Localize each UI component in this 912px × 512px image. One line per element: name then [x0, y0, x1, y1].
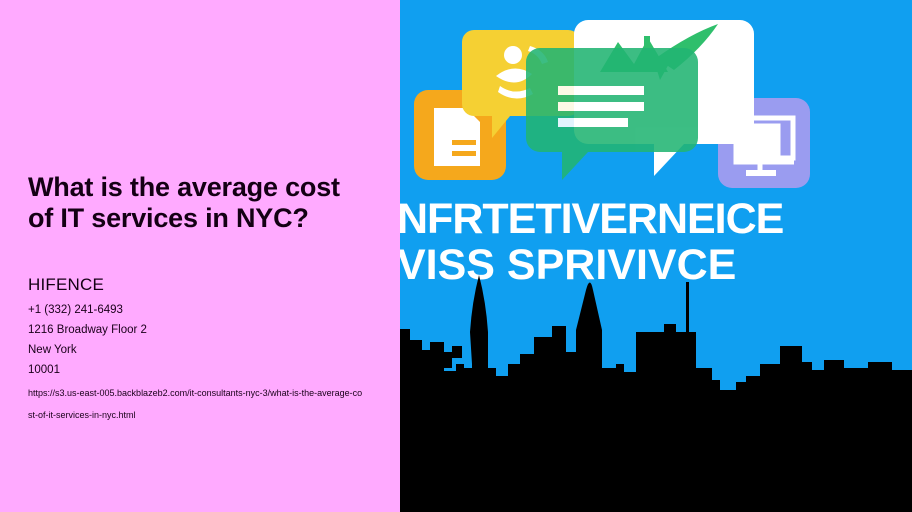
contact-city: New York [28, 340, 368, 360]
right-image-panel: NFRTETIVERNEICE VISS SPRIVIVCE [400, 0, 912, 512]
city-skyline [400, 272, 912, 512]
message-lines-bubble-icon [526, 48, 698, 180]
left-text-panel: What is the average cost of IT services … [0, 0, 400, 512]
contact-zip: 10001 [28, 360, 368, 380]
screenshot-page: What is the average cost of IT services … [0, 0, 912, 512]
contact-street: 1216 Broadway Floor 2 [28, 320, 368, 340]
icon-cluster [400, 0, 912, 200]
contact-details: +1 (332) 241-6493 1216 Broadway Floor 2 … [28, 300, 368, 380]
source-url[interactable]: https://s3.us-east-005.backblazeb2.com/i… [28, 382, 364, 426]
brand-name: HIFENCE [28, 275, 104, 295]
page-title: What is the average cost of IT services … [28, 172, 358, 235]
banner-line-1: NFRTETIVERNEICE [400, 195, 783, 243]
contact-phone: +1 (332) 241-6493 [28, 300, 368, 320]
